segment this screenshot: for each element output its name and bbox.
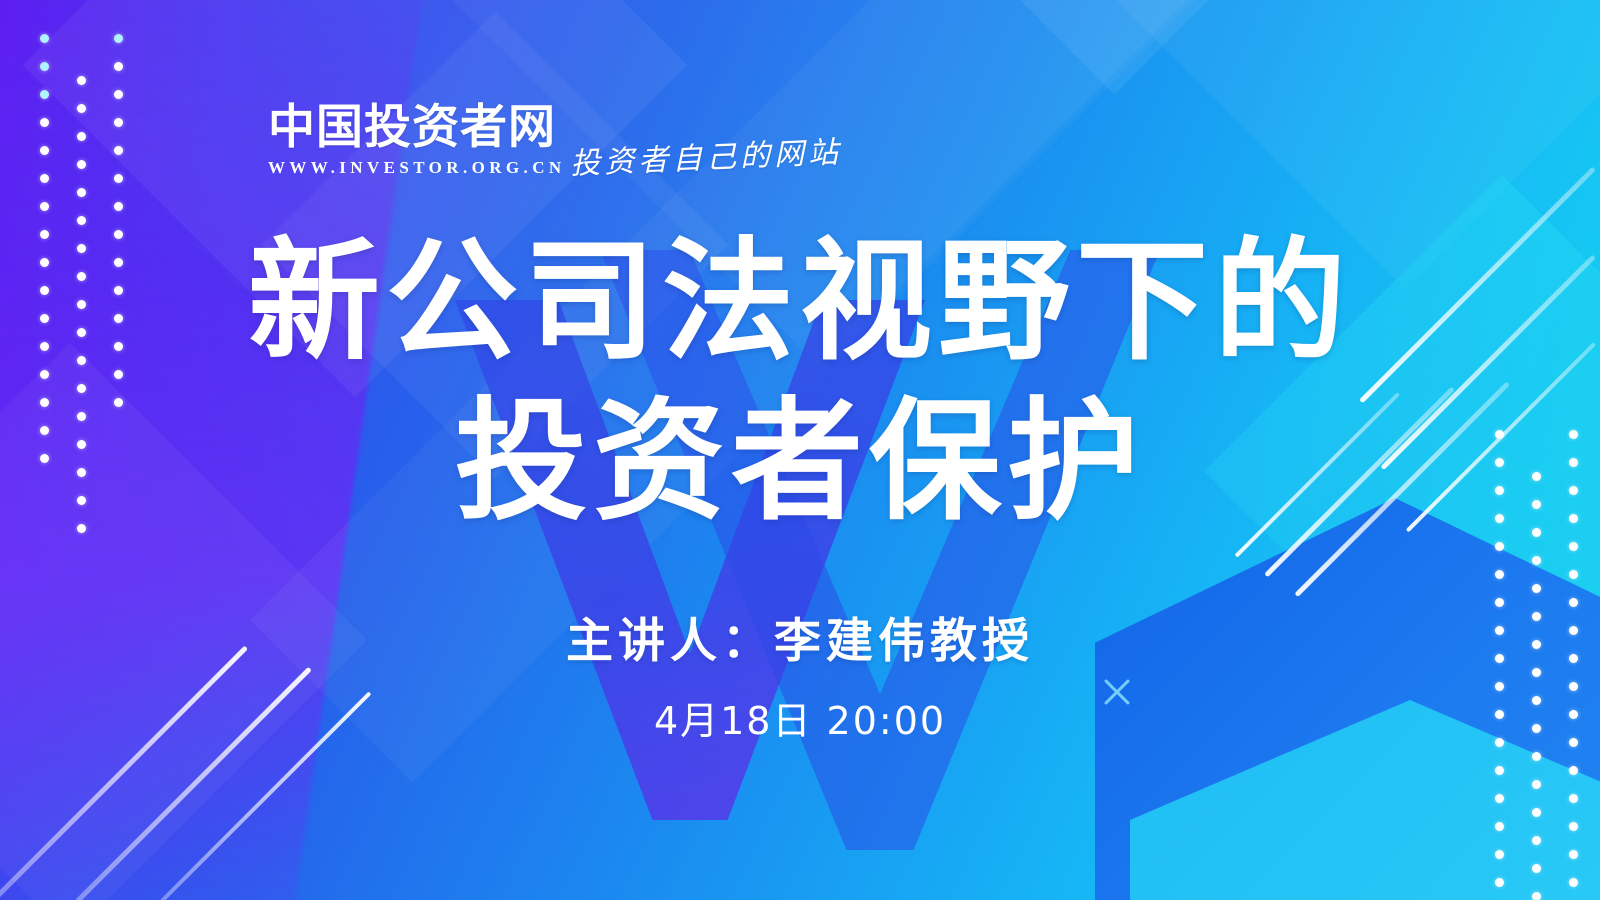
decor-dot	[40, 118, 49, 127]
decor-dot	[114, 90, 123, 99]
decor-dot	[1495, 850, 1504, 859]
decor-dot	[1495, 878, 1504, 887]
decor-dot	[1569, 542, 1578, 551]
decor-dot	[1495, 794, 1504, 803]
decor-dot	[77, 160, 86, 169]
decor-dot	[1532, 780, 1541, 789]
page-title-line-1: 新公司法视野下的	[0, 236, 1600, 368]
decor-dot	[77, 132, 86, 141]
decor-dot	[114, 202, 123, 211]
decor-dot	[40, 202, 49, 211]
brand-name: 中国投资者网	[268, 104, 566, 151]
decor-dot	[77, 76, 86, 85]
decor-dot	[77, 216, 86, 225]
decor-dot	[114, 370, 123, 379]
decor-dot	[1569, 570, 1578, 579]
brand-logo: 中国投资者网 WWW.INVESTOR.ORG.CN	[268, 104, 566, 178]
speaker-name: 主讲人：李建伟教授	[0, 602, 1600, 671]
decor-dot	[40, 146, 49, 155]
decor-dot	[77, 384, 86, 393]
decor-dot	[40, 34, 49, 43]
event-datetime: 4月18日 20:00	[0, 690, 1600, 745]
decor-dot	[1495, 542, 1504, 551]
decor-dot	[114, 118, 123, 127]
decor-dot	[1569, 850, 1578, 859]
decor-dot	[1532, 836, 1541, 845]
decor-dot	[1532, 808, 1541, 817]
decor-dot	[114, 174, 123, 183]
decor-dot	[1569, 878, 1578, 887]
decor-dot	[1569, 822, 1578, 831]
cross-icon	[1100, 675, 1134, 709]
decor-dot	[1569, 766, 1578, 775]
promo-banner: 中国投资者网 WWW.INVESTOR.ORG.CN 投资者自己的网站 新公司法…	[0, 0, 1600, 900]
page-title-line-2: 投资者保护	[0, 396, 1600, 528]
decor-dot	[40, 174, 49, 183]
decor-dot	[114, 34, 123, 43]
decor-dot	[40, 62, 49, 71]
decor-dot	[77, 188, 86, 197]
decor-dot	[1495, 766, 1504, 775]
decor-dot	[77, 104, 86, 113]
decor-dot	[1532, 556, 1541, 565]
decor-dot	[114, 146, 123, 155]
decor-dot	[1532, 584, 1541, 593]
decor-dot	[1532, 528, 1541, 537]
brand-url: WWW.INVESTOR.ORG.CN	[268, 158, 566, 178]
decor-dot	[1569, 794, 1578, 803]
decor-dot	[40, 370, 49, 379]
decor-dot	[1532, 864, 1541, 873]
decor-dot	[1532, 752, 1541, 761]
decor-dot	[114, 62, 123, 71]
decor-dot	[40, 90, 49, 99]
decor-dot	[1495, 822, 1504, 831]
decor-dot	[1532, 892, 1541, 900]
decor-dot	[1495, 570, 1504, 579]
